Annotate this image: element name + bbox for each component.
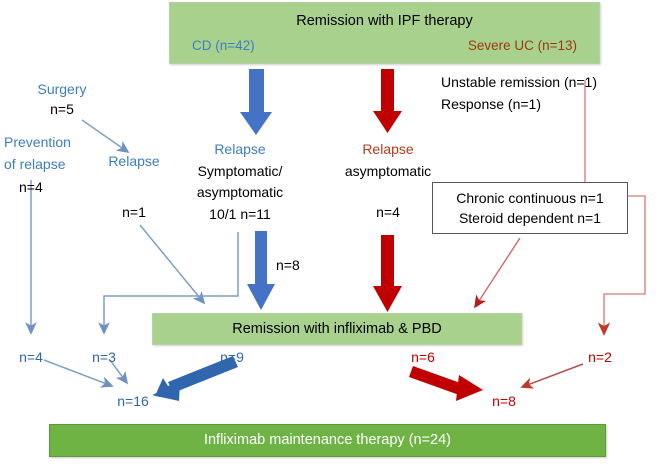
relapse-right-label: Relapse <box>362 140 413 158</box>
n9-outcome-label: n=9 <box>220 348 244 366</box>
relapse-mid-line2: asymptomatic <box>197 183 283 201</box>
unstable-remission-label: Unstable remission (n=1) <box>441 73 597 91</box>
detail-box-line1: Chronic continuous n=1 <box>456 188 604 208</box>
detail-box-line2: Steroid dependent n=1 <box>459 208 601 228</box>
n8-mid-arrow-label: n=8 <box>276 256 300 274</box>
relapse-left-label: Relapse <box>108 152 159 170</box>
cd-cohort-label: CD (n=42) <box>192 38 255 53</box>
relapse-mid-label: Relapse <box>214 140 265 158</box>
arrow-n2-to-n8 <box>522 364 583 387</box>
n4-outcome-label: n=4 <box>19 348 43 366</box>
prevention-count: n=4 <box>19 178 43 196</box>
thick-red-arrow-n6-to-n8 <box>409 366 483 401</box>
arrow-detailbox-to-remission <box>475 238 520 307</box>
arrow-surgery-to-relapse <box>82 120 128 152</box>
relapse-mid-line3: 10/1 n=11 <box>209 205 271 223</box>
thick-red-arrow-n4-into-remission <box>373 235 402 312</box>
relapse-right-count: n=4 <box>376 203 400 221</box>
mid-box-title: Remission with infliximab & PBD <box>153 321 521 338</box>
response-label: Response (n=1) <box>441 95 541 113</box>
chronic-steroid-detail-box: Chronic continuous n=1 Steroid dependent… <box>432 182 628 234</box>
thick-blue-arrow-to-relapse <box>240 69 272 135</box>
n2-outcome-label: n=2 <box>588 348 612 366</box>
prevention-label-line1: Prevention <box>4 133 71 151</box>
relapse-right-line1: asymptomatic <box>345 162 431 180</box>
relapse-mid-line1: Symptomatic/ <box>198 162 283 180</box>
top-remission-box: Remission with IPF therapy CD (n=42) Sev… <box>169 2 600 64</box>
prevention-label-line2: of relapse <box>4 155 65 173</box>
n16-total-label: n=16 <box>117 392 149 410</box>
flow-diagram-canvas: Remission with IPF therapy CD (n=42) Sev… <box>0 0 660 464</box>
remission-infliximab-pbd-box: Remission with infliximab & PBD <box>152 313 522 345</box>
top-box-title: Remission with IPF therapy <box>170 13 599 30</box>
infliximab-maintenance-bar: Infliximab maintenance therapy (n=24) <box>49 424 606 457</box>
thick-red-arrow-to-relapse-asymptomatic <box>373 69 402 133</box>
arrow-relapse1-to-remission-box <box>140 225 204 303</box>
surgery-label: Surgery <box>37 80 86 98</box>
bottom-bar-title: Infliximab maintenance therapy (n=24) <box>204 432 451 449</box>
surgery-count: n=5 <box>50 100 74 118</box>
relapse-left-count: n=1 <box>122 203 146 221</box>
thick-blue-arrow-n8-into-remission <box>247 231 275 310</box>
top-box-cohorts: CD (n=42) Severe UC (n=13) <box>170 38 599 53</box>
n8-total-label: n=8 <box>492 392 516 410</box>
n6-outcome-label: n=6 <box>411 348 435 366</box>
uc-cohort-label: Severe UC (n=13) <box>468 38 577 53</box>
n3-outcome-label: n=3 <box>92 348 116 366</box>
